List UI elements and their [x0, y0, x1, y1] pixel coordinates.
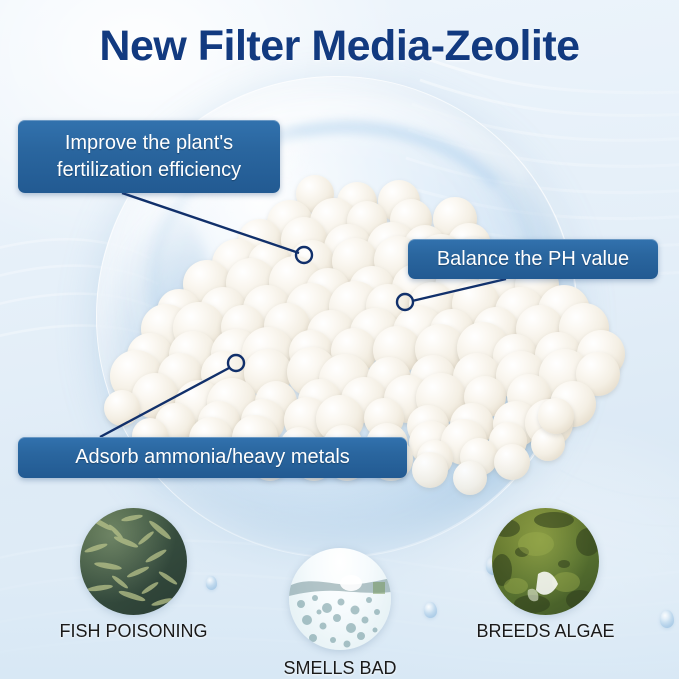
- fish-shapes: [80, 508, 187, 615]
- breeds-algae-label: BREEDS ALGAE: [476, 621, 614, 642]
- algae-texture: [492, 508, 599, 615]
- callout-improve-line1: Improve the plant's: [57, 130, 241, 157]
- fish-poisoning-photo: [80, 508, 187, 615]
- smells-bad-label: SMELLS BAD: [283, 658, 396, 679]
- callout-balance-ph-label: Balance the PH value: [437, 246, 629, 273]
- problem-fish-poisoning[interactable]: FISH POISONING: [80, 508, 187, 615]
- callout-improve-fertilization[interactable]: Improve the plant's fertilization effici…: [18, 120, 280, 193]
- connector-line-adsorb: [100, 368, 229, 437]
- connector-line-ph: [412, 279, 506, 301]
- callout-adsorb-ammonia-label: Adsorb ammonia/heavy metals: [75, 444, 350, 471]
- callout-adsorb-ammonia[interactable]: Adsorb ammonia/heavy metals: [18, 437, 407, 478]
- problem-breeds-algae[interactable]: BREEDS ALGAE: [492, 508, 599, 615]
- connector-line-improve: [122, 193, 299, 253]
- smells-bad-photo: [289, 548, 391, 650]
- page-title: New Filter Media-Zeolite: [0, 22, 679, 71]
- breeds-algae-photo: [492, 508, 599, 615]
- connector-dot-improve: [296, 247, 312, 263]
- callout-balance-ph[interactable]: Balance the PH value: [408, 239, 658, 279]
- problem-smells-bad[interactable]: SMELLS BAD: [289, 548, 391, 650]
- product-infographic: New Filter Media-Zeolite Improve the pla…: [0, 0, 679, 679]
- callout-improve-line2: fertilization efficiency: [57, 157, 241, 184]
- connector-dot-adsorb: [228, 355, 244, 371]
- bubbles-shapes: [289, 548, 391, 650]
- fish-poisoning-label: FISH POISONING: [59, 621, 207, 642]
- connector-dot-ph: [397, 294, 413, 310]
